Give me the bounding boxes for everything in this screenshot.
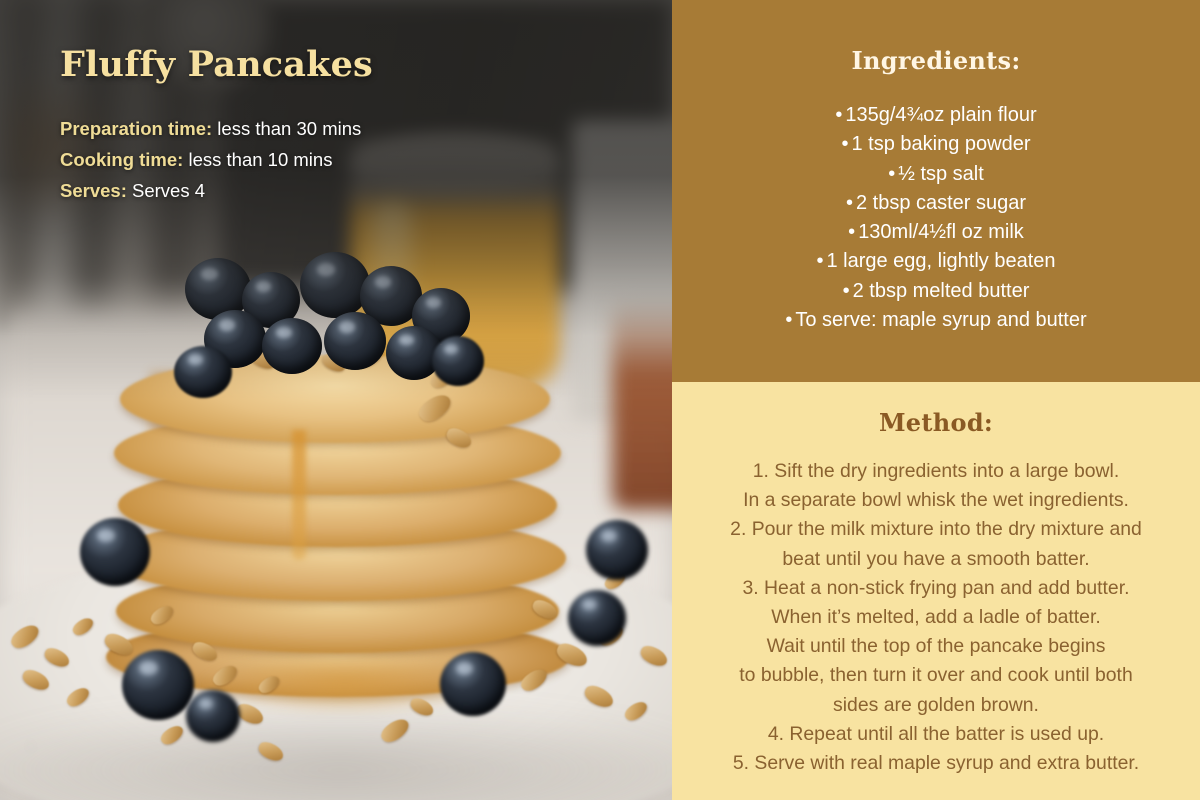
meta-label-serves: Serves:: [60, 180, 127, 201]
ingredient-text: 130ml/4½fl oz milk: [858, 221, 1024, 243]
ingredient-text: 1 tsp baking powder: [852, 133, 1031, 155]
ingredient-text: To serve: maple syrup and butter: [795, 309, 1086, 331]
hero-text-block: Fluffy Pancakes Preparation time: less t…: [60, 44, 620, 206]
list-item: •To serve: maple syrup and butter: [696, 306, 1176, 335]
method-line: to bubble, then turn it over and cook un…: [690, 661, 1182, 690]
list-item: •130ml/4½fl oz milk: [696, 218, 1176, 247]
method-panel: Method: 1. Sift the dry ingredients into…: [672, 382, 1200, 800]
list-item: •135g/4¾oz plain flour: [696, 101, 1176, 130]
meta-label-cooking-time: Cooking time:: [60, 149, 183, 170]
method-line: 1. Sift the dry ingredients into a large…: [690, 457, 1182, 486]
ingredient-text: ½ tsp salt: [898, 163, 984, 185]
meta-value-cooking-time: less than 10 mins: [188, 149, 332, 170]
list-item: •1 large egg, lightly beaten: [696, 247, 1176, 276]
method-line: Wait until the top of the pancake begins: [690, 632, 1182, 661]
method-line: In a separate bowl whisk the wet ingredi…: [690, 486, 1182, 515]
bullet-icon: •: [835, 104, 842, 126]
method-line: 2. Pour the milk mixture into the dry mi…: [690, 515, 1182, 544]
meta-label-preparation-time: Preparation time:: [60, 118, 212, 139]
method-line: 5. Serve with real maple syrup and extra…: [690, 749, 1182, 778]
bullet-icon: •: [848, 221, 855, 243]
bullet-icon: •: [888, 163, 895, 185]
ingredient-text: 1 large egg, lightly beaten: [826, 250, 1055, 272]
meta-value-serves: Serves 4: [132, 180, 205, 201]
bullet-icon: •: [785, 309, 792, 331]
ingredients-list: •135g/4¾oz plain flour •1 tsp baking pow…: [696, 101, 1176, 335]
ingredients-panel: Ingredients: •135g/4¾oz plain flour •1 t…: [672, 0, 1200, 382]
list-item: •2 tbsp caster sugar: [696, 189, 1176, 218]
bullet-icon: •: [816, 250, 823, 272]
method-line: When it’s melted, add a ladle of batter.: [690, 603, 1182, 632]
method-line: 4. Repeat until all the batter is used u…: [690, 720, 1182, 749]
recipe-card: Fluffy Pancakes Preparation time: less t…: [0, 0, 1200, 800]
hero-photo-panel: Fluffy Pancakes Preparation time: less t…: [0, 0, 672, 800]
bullet-icon: •: [846, 192, 853, 214]
bullet-icon: •: [841, 133, 848, 155]
meta-cooking-time: Cooking time: less than 10 mins: [60, 144, 620, 175]
ingredients-heading: Ingredients:: [696, 46, 1176, 75]
recipe-content-column: Ingredients: •135g/4¾oz plain flour •1 t…: [672, 0, 1200, 800]
method-steps: 1. Sift the dry ingredients into a large…: [690, 457, 1182, 778]
list-item: •½ tsp salt: [696, 160, 1176, 189]
method-line: 3. Heat a non-stick frying pan and add b…: [690, 574, 1182, 603]
method-heading: Method:: [690, 408, 1182, 437]
bullet-icon: •: [843, 280, 850, 302]
meta-preparation-time: Preparation time: less than 30 mins: [60, 113, 620, 144]
ingredient-text: 2 tbsp caster sugar: [856, 192, 1026, 214]
list-item: •2 tbsp melted butter: [696, 277, 1176, 306]
ingredient-text: 2 tbsp melted butter: [853, 280, 1030, 302]
ingredient-text: 135g/4¾oz plain flour: [845, 104, 1036, 126]
meta-value-preparation-time: less than 30 mins: [217, 118, 361, 139]
method-line: beat until you have a smooth batter.: [690, 545, 1182, 574]
list-item: •1 tsp baking powder: [696, 130, 1176, 159]
meta-serves: Serves: Serves 4: [60, 175, 620, 206]
recipe-title: Fluffy Pancakes: [60, 44, 620, 85]
method-line: sides are golden brown.: [690, 691, 1182, 720]
